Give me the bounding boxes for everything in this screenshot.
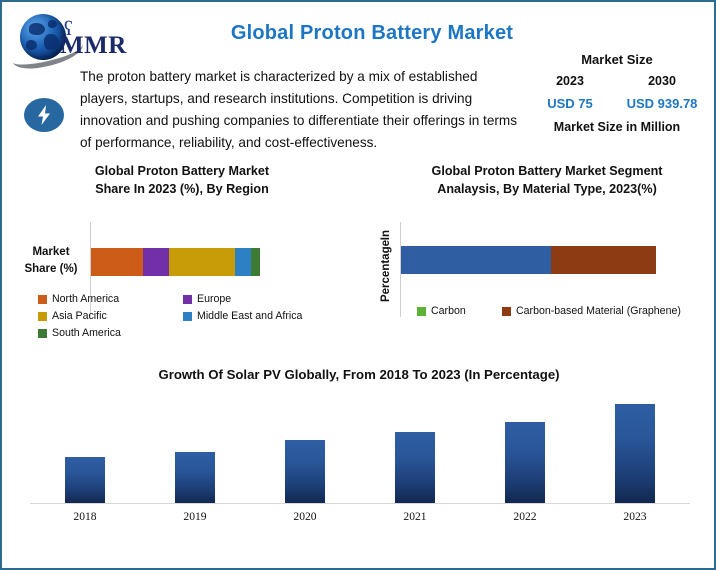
legend-swatch-icon <box>502 307 511 316</box>
region-legend-item[interactable]: Europe <box>183 293 338 305</box>
region-chart-legend: North AmericaEuropeAsia PacificMiddle Ea… <box>38 293 338 339</box>
region-legend-label: South America <box>52 327 121 339</box>
material-axis-label-line-1: In <box>379 230 394 240</box>
region-axis-label-line-1: Market <box>12 244 90 261</box>
page-title: Global Proton Battery Market <box>162 22 582 45</box>
solar-chart-bar <box>65 457 105 503</box>
region-legend-grid: North AmericaEuropeAsia PacificMiddle Ea… <box>38 293 338 339</box>
region-bar-segment <box>251 248 260 276</box>
solar-chart-x-label: 2023 <box>600 510 670 523</box>
legend-swatch-icon <box>183 295 192 304</box>
material-legend-label: Carbon <box>431 305 466 317</box>
region-legend-label: Middle East and Africa <box>197 310 302 322</box>
region-bar-segment <box>143 248 169 276</box>
region-bar-segment <box>91 248 143 276</box>
legend-swatch-icon <box>183 312 192 321</box>
legend-swatch-icon <box>417 307 426 316</box>
region-bar-segment <box>169 248 236 276</box>
material-legend-grid: CarbonCarbon-based Material (Graphene) <box>417 305 712 317</box>
logo-text: MMR <box>60 32 127 60</box>
legend-swatch-icon <box>38 312 47 321</box>
legend-swatch-icon <box>38 295 47 304</box>
solar-chart-plot-area <box>30 394 690 504</box>
region-chart-title: Global Proton Battery Market Share In 20… <box>32 162 332 199</box>
region-legend-label: Europe <box>197 293 231 305</box>
solar-chart-bar <box>505 422 545 503</box>
region-legend-label: Asia Pacific <box>52 310 107 322</box>
region-legend-item[interactable]: North America <box>38 293 183 305</box>
market-size-year-2030: 2030 <box>619 74 705 88</box>
legend-swatch-icon <box>38 329 47 338</box>
market-size-heading: Market Size <box>522 52 712 67</box>
material-chart-axis-label: In Percentage <box>370 230 402 314</box>
solar-chart-x-label: 2018 <box>50 510 120 523</box>
intro-paragraph: The proton battery market is characteriz… <box>80 66 520 154</box>
market-size-year-2023: 2023 <box>527 74 613 88</box>
header-section: ʔ MMR Global Proton Battery Market The p… <box>2 2 714 152</box>
region-chart-title-line-1: Global Proton Battery Market <box>32 162 332 180</box>
region-legend-item[interactable]: South America <box>38 327 183 339</box>
region-legend-label: North America <box>52 293 119 305</box>
solar-chart-x-label: 2019 <box>160 510 230 523</box>
material-chart-title-line-2: Analaysis, By Material Type, 2023(%) <box>392 180 702 198</box>
region-bar-segment <box>235 248 250 276</box>
infographic-canvas: ʔ MMR Global Proton Battery Market The p… <box>0 0 716 570</box>
solar-chart-bar <box>285 440 325 503</box>
solar-chart-bar <box>175 452 215 503</box>
solar-chart-x-label: 2022 <box>490 510 560 523</box>
material-type-chart: In Percentage <box>370 222 710 352</box>
region-chart-title-line-2: Share In 2023 (%), By Region <box>32 180 332 198</box>
solar-chart-bar <box>615 404 655 503</box>
market-size-value-2023: USD 75 <box>527 96 613 111</box>
solar-chart-title: Growth Of Solar PV Globally, From 2018 T… <box>12 367 706 382</box>
company-logo: ʔ MMR <box>12 10 162 68</box>
solar-chart-x-axis: 201820192020202120222023 <box>30 510 690 528</box>
material-chart-title-line-1: Global Proton Battery Market Segment <box>392 162 702 180</box>
lightning-bolt-icon <box>24 98 64 132</box>
material-chart-title: Global Proton Battery Market Segment Ana… <box>392 162 702 199</box>
material-bar-segment <box>551 246 656 274</box>
material-legend-item[interactable]: Carbon-based Material (Graphene) <box>502 305 702 317</box>
material-axis-label-line-2: Percentage <box>379 240 394 302</box>
market-size-value-2030: USD 939.78 <box>619 96 705 111</box>
region-stacked-bar <box>91 248 260 276</box>
region-axis-label-line-2: Share (%) <box>12 261 90 278</box>
material-legend-label: Carbon-based Material (Graphene) <box>516 305 681 317</box>
material-legend-item[interactable]: Carbon <box>417 305 502 317</box>
solar-chart-x-label: 2020 <box>270 510 340 523</box>
solar-chart-bar <box>395 432 435 503</box>
material-chart-legend: CarbonCarbon-based Material (Graphene) <box>417 305 712 317</box>
region-legend-item[interactable]: Middle East and Africa <box>183 310 338 322</box>
material-stacked-bar <box>401 246 656 274</box>
market-size-panel: Market Size 2023 2030 USD 75 USD 939.78 … <box>522 52 712 144</box>
solar-pv-growth-chart: Growth Of Solar PV Globally, From 2018 T… <box>12 362 706 562</box>
solar-chart-baseline <box>30 503 690 504</box>
region-chart-axis-label: Market Share (%) <box>12 244 90 279</box>
region-legend-item[interactable]: Asia Pacific <box>38 310 183 322</box>
material-bar-segment <box>401 246 551 274</box>
market-size-units: Market Size in Million <box>522 120 712 134</box>
solar-chart-x-label: 2021 <box>380 510 450 523</box>
